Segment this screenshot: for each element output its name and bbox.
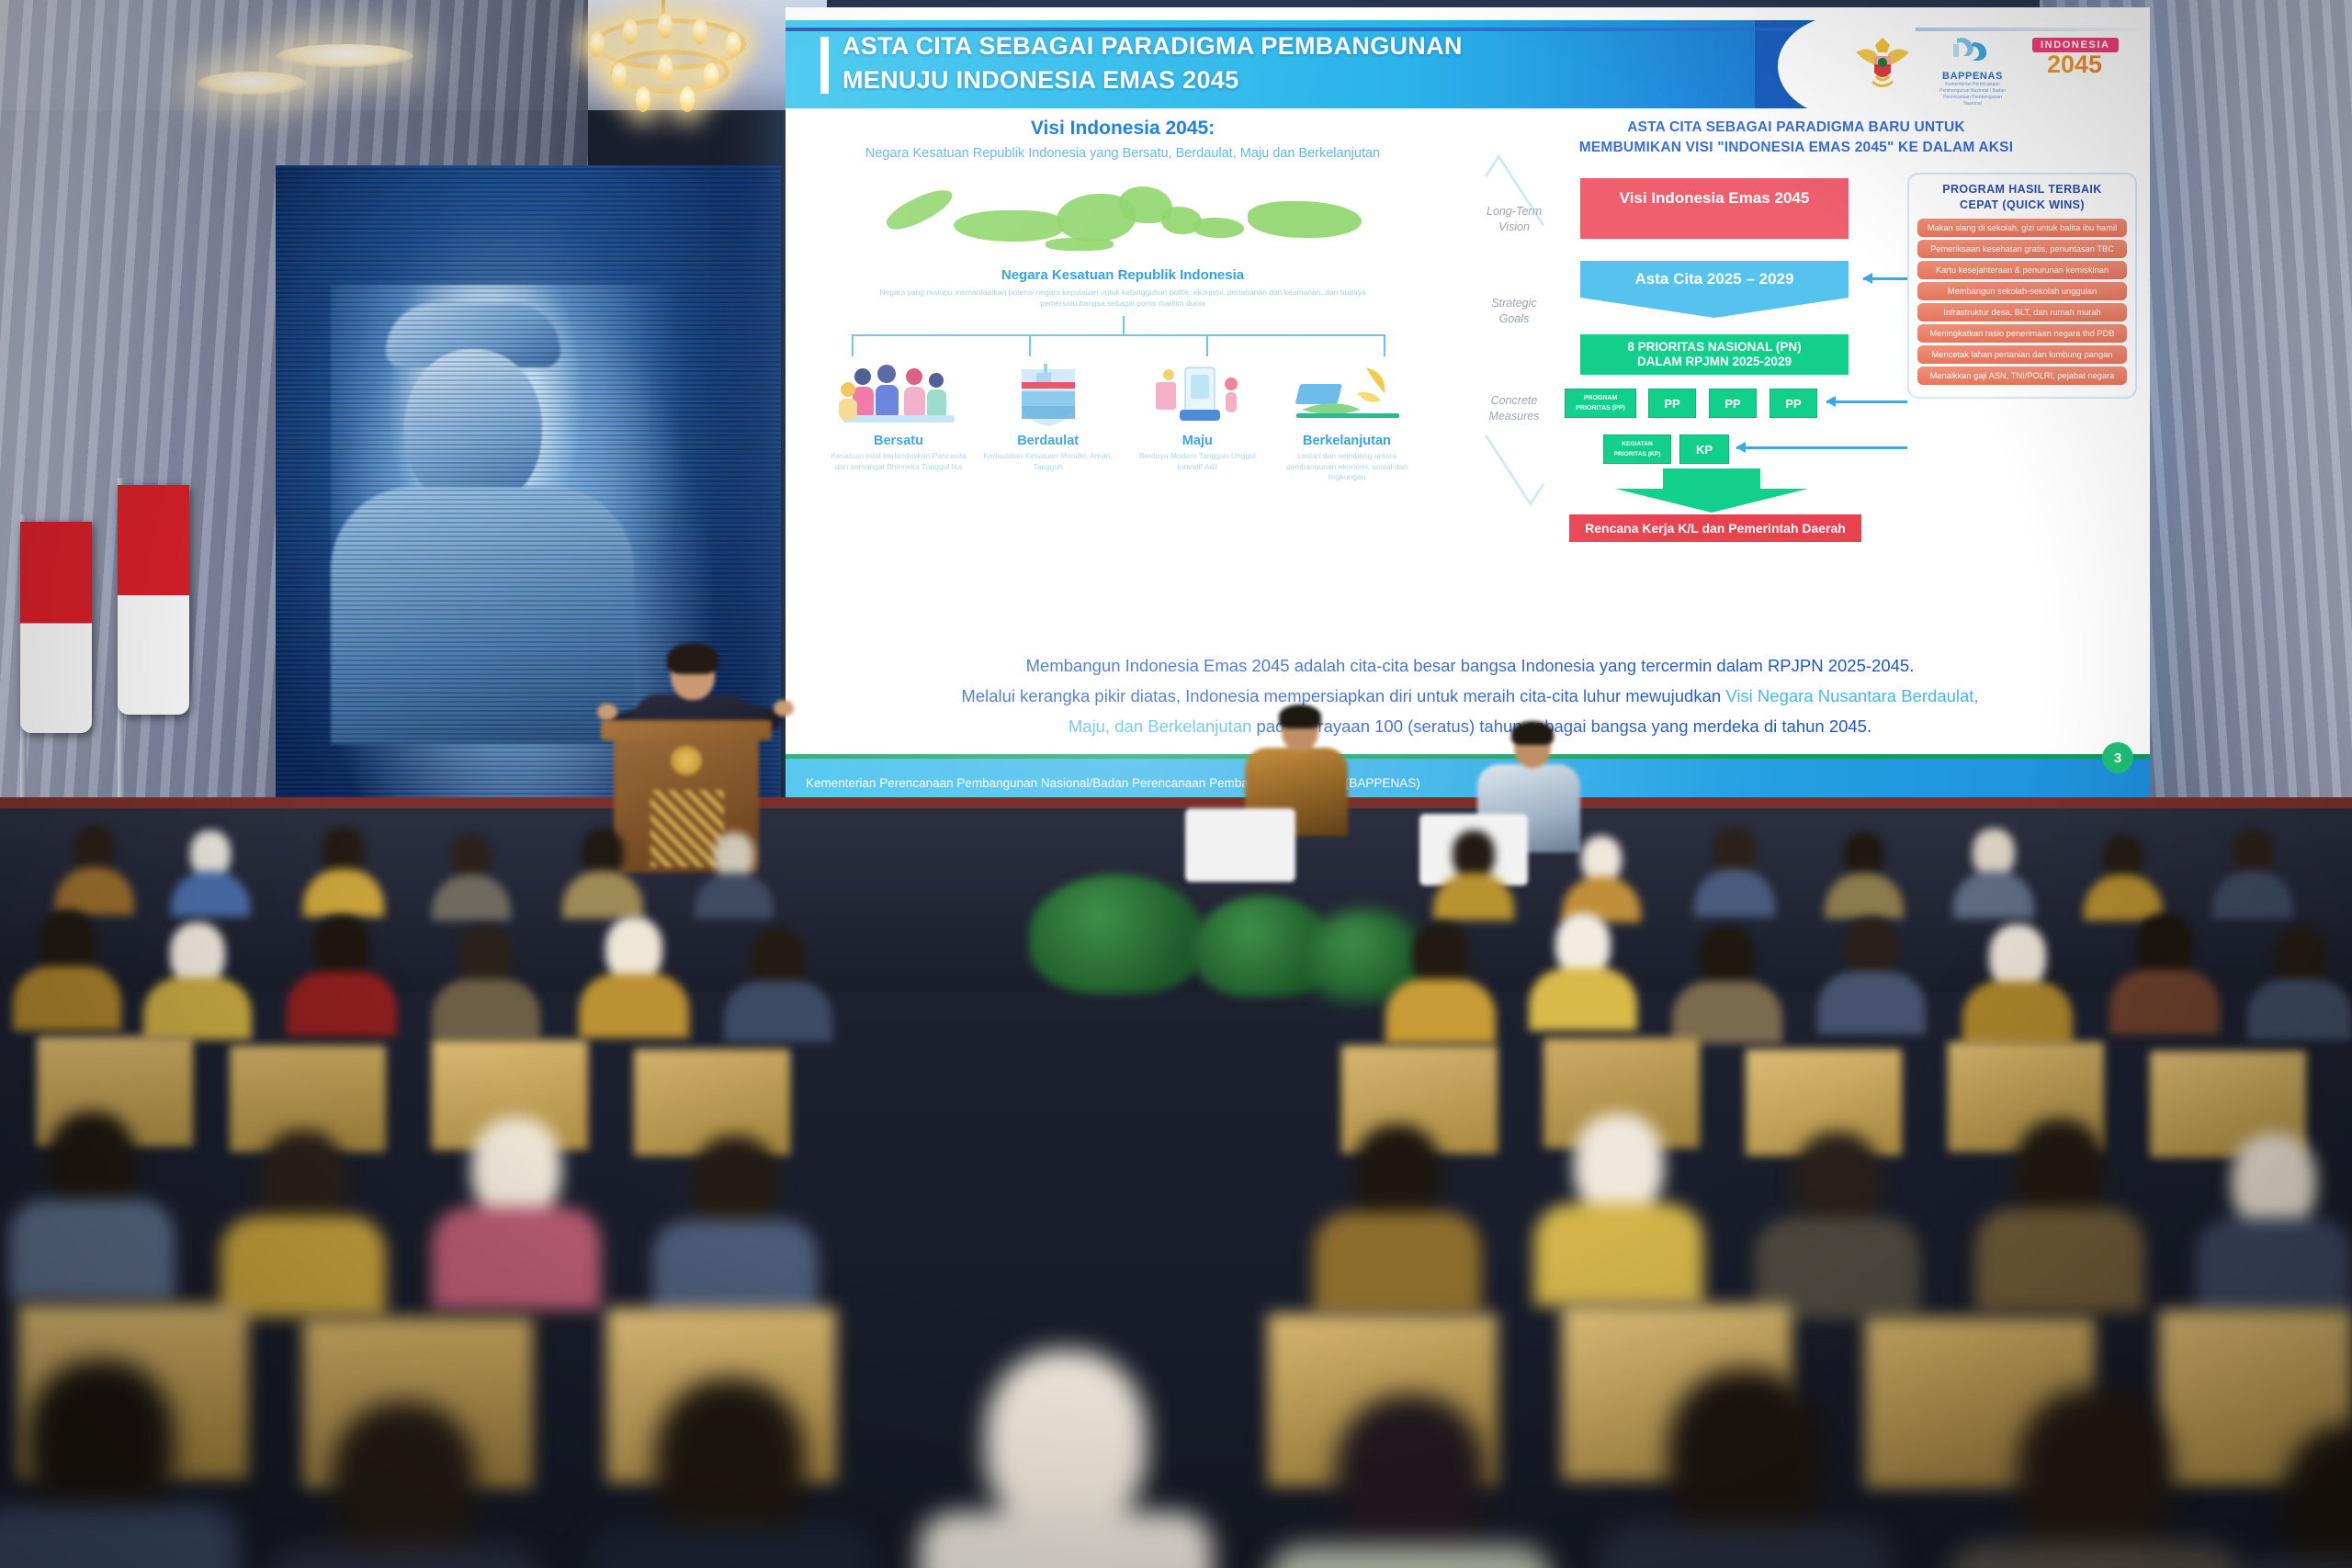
audience-member xyxy=(55,825,134,913)
audience-member xyxy=(432,1117,601,1314)
slide-page-number: 3 xyxy=(2102,742,2133,773)
kp-line2: PRIORITAS (KP) xyxy=(1614,449,1661,459)
pillar-berkelanjutan: Berkelanjutan Lestari dan seimbang antar… xyxy=(1278,362,1416,483)
slide-title-line1: ASTA CITA SEBAGAI PARADIGMA PEMBANGUNAN xyxy=(842,29,1789,63)
audience-member xyxy=(2247,926,2352,1043)
slide-summary-paragraph: Membangun Indonesia Emas 2045 adalah cit… xyxy=(831,650,2109,741)
audience-member xyxy=(1599,1369,1893,1568)
bappenas-wordmark: BAPPENAS xyxy=(1937,71,2008,82)
conference-hall-screenshot: ASTA CITA SEBAGAI PARADIGMA PEMBANGUNAN … xyxy=(0,0,2352,1568)
paragraph-line3: Maju, dan Berkelanjutan pada perayaan 10… xyxy=(831,711,2109,741)
pillar-name: Berdaulat xyxy=(979,434,1117,448)
audience-member xyxy=(287,915,397,1036)
audience-member xyxy=(919,1350,1213,1568)
right-heading-line2: MEMBUMIKAN VISI "INDONESIA EMAS 2045" KE… xyxy=(1461,138,2131,158)
indonesia-map-graphic xyxy=(865,170,1380,262)
pp-box-program-prioritas: PROGRAM PRIORITAS (PP) xyxy=(1565,389,1636,418)
vision-title: Visi Indonesia 2045: xyxy=(806,118,1440,140)
pillar-name: Maju xyxy=(1128,434,1266,448)
pillar-name: Berkelanjutan xyxy=(1278,434,1416,448)
garuda-pancasila-emblem xyxy=(1852,34,1913,91)
quick-win-item: Kartu kesejahteraan & penurunan kemiskin… xyxy=(1917,261,2127,279)
slide-title-line2: MENUJU INDONESIA EMAS 2045 xyxy=(842,63,1789,97)
arrow-to-kp xyxy=(1736,446,1907,449)
lane-label-line2: Vision xyxy=(1464,220,1564,235)
audience-member xyxy=(1975,1119,2144,1315)
paragraph-line2: Melalui kerangka pikir diatas, Indonesia… xyxy=(831,681,2109,711)
slide-left-panel: Visi Indonesia 2045: Negara Kesatuan Rep… xyxy=(806,118,1440,483)
audience-member xyxy=(1534,1113,1703,1310)
right-heading-line1: ASTA CITA SEBAGAI PARADIGMA BARU UNTUK xyxy=(1461,118,2131,138)
lane-long-term-vision: Long-Term Vision xyxy=(1464,204,1564,235)
paragraph-line2-highlight: Visi Negara Nusantara Berdaulat, xyxy=(1725,686,1978,705)
quick-win-item: Makan siang di sekolah, gizi untuk balit… xyxy=(1917,219,2127,237)
quick-win-item: Infrastruktur desa, BLT, dan rumah murah xyxy=(1917,303,2127,321)
pillar-berdaulat: Berdaulat Kedaulatan Kesatuan Mandiri, A… xyxy=(979,362,1117,483)
indonesia-emas-year: 2045 xyxy=(2032,52,2117,77)
flow-box-rencana-kerja: Rencana Kerja K/L dan Pemerintah Daerah xyxy=(1569,514,1861,542)
arrow-to-asta-cita xyxy=(1863,277,1907,280)
paragraph-line2-a: Melalui kerangka pikir diatas, Indonesia… xyxy=(961,686,1725,705)
audience-member xyxy=(1817,917,1926,1036)
right-panel-heading: ASTA CITA SEBAGAI PARADIGMA BARU UNTUK M… xyxy=(1461,118,2131,158)
kp-box: KP xyxy=(1679,434,1729,464)
quick-win-item: Mencetak lahan pertanian dan lumbung pan… xyxy=(1917,345,2127,364)
bappenas-sublabel: Kementerian Perencanaan Pembangunan Nasi… xyxy=(1937,82,2008,107)
pillar-desc: Kesatuan kuat berlandaskan Pancasila dan… xyxy=(830,451,967,472)
pillar-connector-tree xyxy=(806,316,1440,360)
shield-ship-icon xyxy=(979,362,1117,430)
pp-line1: PROGRAM xyxy=(1584,393,1618,403)
slide-logo-row: BAPPENAS Kementerian Perencanaan Pembang… xyxy=(1852,20,2137,105)
slide-title: ASTA CITA SEBAGAI PARADIGMA PEMBANGUNAN … xyxy=(842,29,1789,97)
audience-member xyxy=(1962,924,2073,1045)
audience-member xyxy=(9,1111,175,1304)
audience-member xyxy=(1433,830,1514,919)
audience-member xyxy=(2233,1424,2352,1568)
audience-member xyxy=(652,1135,818,1326)
header-accent-bar xyxy=(820,37,829,94)
paragraph-line3-highlight: Maju, dan Berkelanjutan xyxy=(1069,716,1252,736)
bappenas-logo: BAPPENAS Kementerian Perencanaan Pembang… xyxy=(1937,35,2008,90)
quick-win-item: Menaikkan gaji ASN, TNI/POLRI, pejabat n… xyxy=(1917,367,2127,385)
quick-wins-title-line1: PROGRAM HASIL TERBAIK xyxy=(1917,182,2127,197)
audience-member xyxy=(1755,1132,1920,1325)
lane-concrete-measures: Concrete Measures xyxy=(1464,393,1564,424)
audience-member xyxy=(13,909,121,1029)
people-group-icon xyxy=(830,362,967,430)
audience-member xyxy=(1529,913,1637,1032)
audience xyxy=(0,808,2352,1568)
presentation-slide: ASTA CITA SEBAGAI PARADIGMA PEMBANGUNAN … xyxy=(786,7,2150,807)
vision-subtitle: Negara Kesatuan Republik Indonesia yang … xyxy=(806,146,1440,161)
audience-member xyxy=(1694,827,1775,915)
audience-member xyxy=(1948,1387,2242,1568)
pillar-maju: Maju Berdaya Modern Tangguh Unggul Inova… xyxy=(1128,362,1266,483)
flow-box-vision: Visi Indonesia Emas 2045 xyxy=(1580,178,1849,219)
pillar-desc: Kedaulatan Kesatuan Mandiri, Aman, Tangg… xyxy=(979,451,1117,472)
audience-member xyxy=(562,829,643,917)
pillar-desc: Berdaya Modern Tangguh Unggul Inovatif A… xyxy=(1128,451,1266,472)
audience-member xyxy=(432,926,540,1043)
map-caption-sub: Negara yang mampu memanfaatkan potensi n… xyxy=(806,287,1440,309)
indonesian-flag xyxy=(118,485,189,715)
pp-box: PP xyxy=(1770,389,1817,418)
pillar-name: Bersatu xyxy=(830,434,967,448)
audience-member xyxy=(1672,926,1782,1045)
audience-member xyxy=(2212,829,2293,917)
green-energy-icon xyxy=(1278,362,1416,430)
pillar-desc: Lestari dan seimbang antara pembangunan … xyxy=(1278,451,1416,483)
slide-right-panel: ASTA CITA SEBAGAI PARADIGMA BARU UNTUK M… xyxy=(1461,118,2131,540)
audience-member xyxy=(1562,836,1641,922)
ceiling-downlight xyxy=(276,44,413,68)
audience-member xyxy=(2109,913,2220,1034)
podium-garuda-seal xyxy=(671,746,702,775)
quick-wins-card: PROGRAM HASIL TERBAIK CEPAT (QUICK WINS)… xyxy=(1907,173,2137,399)
pillar-list: Bersatu Kesatuan kuat berlandaskan Panca… xyxy=(806,362,1440,483)
audience-member xyxy=(220,1130,386,1323)
lane-label-line2: Goals xyxy=(1464,311,1564,327)
audience-member xyxy=(1314,1124,1481,1319)
audience-member xyxy=(266,1402,542,1568)
quick-win-item: Pemeriksaan kesehatan gratis, penuntasan… xyxy=(1917,240,2127,258)
technology-icon xyxy=(1128,362,1266,430)
pillar-bersatu: Bersatu Kesatuan kuat berlandaskan Panca… xyxy=(830,362,967,483)
quick-wins-title-line2: CEPAT (QUICK WINS) xyxy=(1917,197,2127,213)
flow-box-asta-cita: Asta Cita 2025 – 2029 xyxy=(1580,261,1849,298)
audience-member xyxy=(1825,832,1904,919)
indonesia-emas-2045-logo: INDONESIA 2045 xyxy=(2032,36,2117,89)
pn-line2: DALAM RPJMN 2025-2029 xyxy=(1637,355,1792,369)
paragraph-line1: Membangun Indonesia Emas 2045 adalah cit… xyxy=(831,650,2109,681)
lane-label-line1: Long-Term xyxy=(1464,204,1564,220)
audience-member xyxy=(724,928,832,1045)
map-caption-title: Negara Kesatuan Republik Indonesia xyxy=(806,267,1440,283)
lane-label-line1: Strategic xyxy=(1464,296,1564,311)
audience-member xyxy=(2084,834,2163,920)
pn-line1: 8 PRIORITAS NASIONAL (PN) xyxy=(1627,340,1801,355)
lane-label-line1: Concrete xyxy=(1464,393,1564,409)
audience-member xyxy=(1953,829,2034,917)
audience-member xyxy=(0,1359,239,1568)
asta-cita-flow-diagram: Long-Term Vision Strategic Goals Concret… xyxy=(1461,173,2131,540)
audience-member xyxy=(1385,922,1496,1043)
ceiling-downlight xyxy=(197,72,307,96)
audience-member xyxy=(1268,1394,1553,1568)
pp-box: PP xyxy=(1648,389,1696,418)
audience-member xyxy=(588,1378,873,1568)
flow-box-prioritas-nasional: 8 PRIORITAS NASIONAL (PN) DALAM RPJMN 20… xyxy=(1580,334,1849,375)
audience-member xyxy=(695,832,774,919)
chandelier xyxy=(562,0,764,138)
audience-member xyxy=(579,917,689,1038)
kp-line1: KEGIATAN xyxy=(1622,439,1652,449)
audience-member xyxy=(143,922,252,1042)
quick-win-item: Meningkatkan rasio penerimaan negara thd… xyxy=(1917,324,2127,343)
pp-box: PP xyxy=(1709,389,1757,418)
quick-win-item: Membangun sekolah-sekolah unggulan xyxy=(1917,282,2127,300)
pp-line2: PRIORITAS (PP) xyxy=(1576,403,1625,413)
audience-member xyxy=(432,834,511,920)
lane-label-line2: Measures xyxy=(1464,409,1564,424)
indonesian-flag xyxy=(20,522,92,733)
lane-strategic-goals: Strategic Goals xyxy=(1464,296,1564,327)
audience-member xyxy=(303,827,384,915)
audience-member xyxy=(2196,1134,2352,1325)
arrow-to-pp xyxy=(1826,400,1907,403)
kp-box-kegiatan-prioritas: KEGIATAN PRIORITAS (KP) xyxy=(1603,434,1671,464)
quick-wins-title: PROGRAM HASIL TERBAIK CEPAT (QUICK WINS) xyxy=(1917,182,2127,213)
audience-member xyxy=(171,830,250,919)
